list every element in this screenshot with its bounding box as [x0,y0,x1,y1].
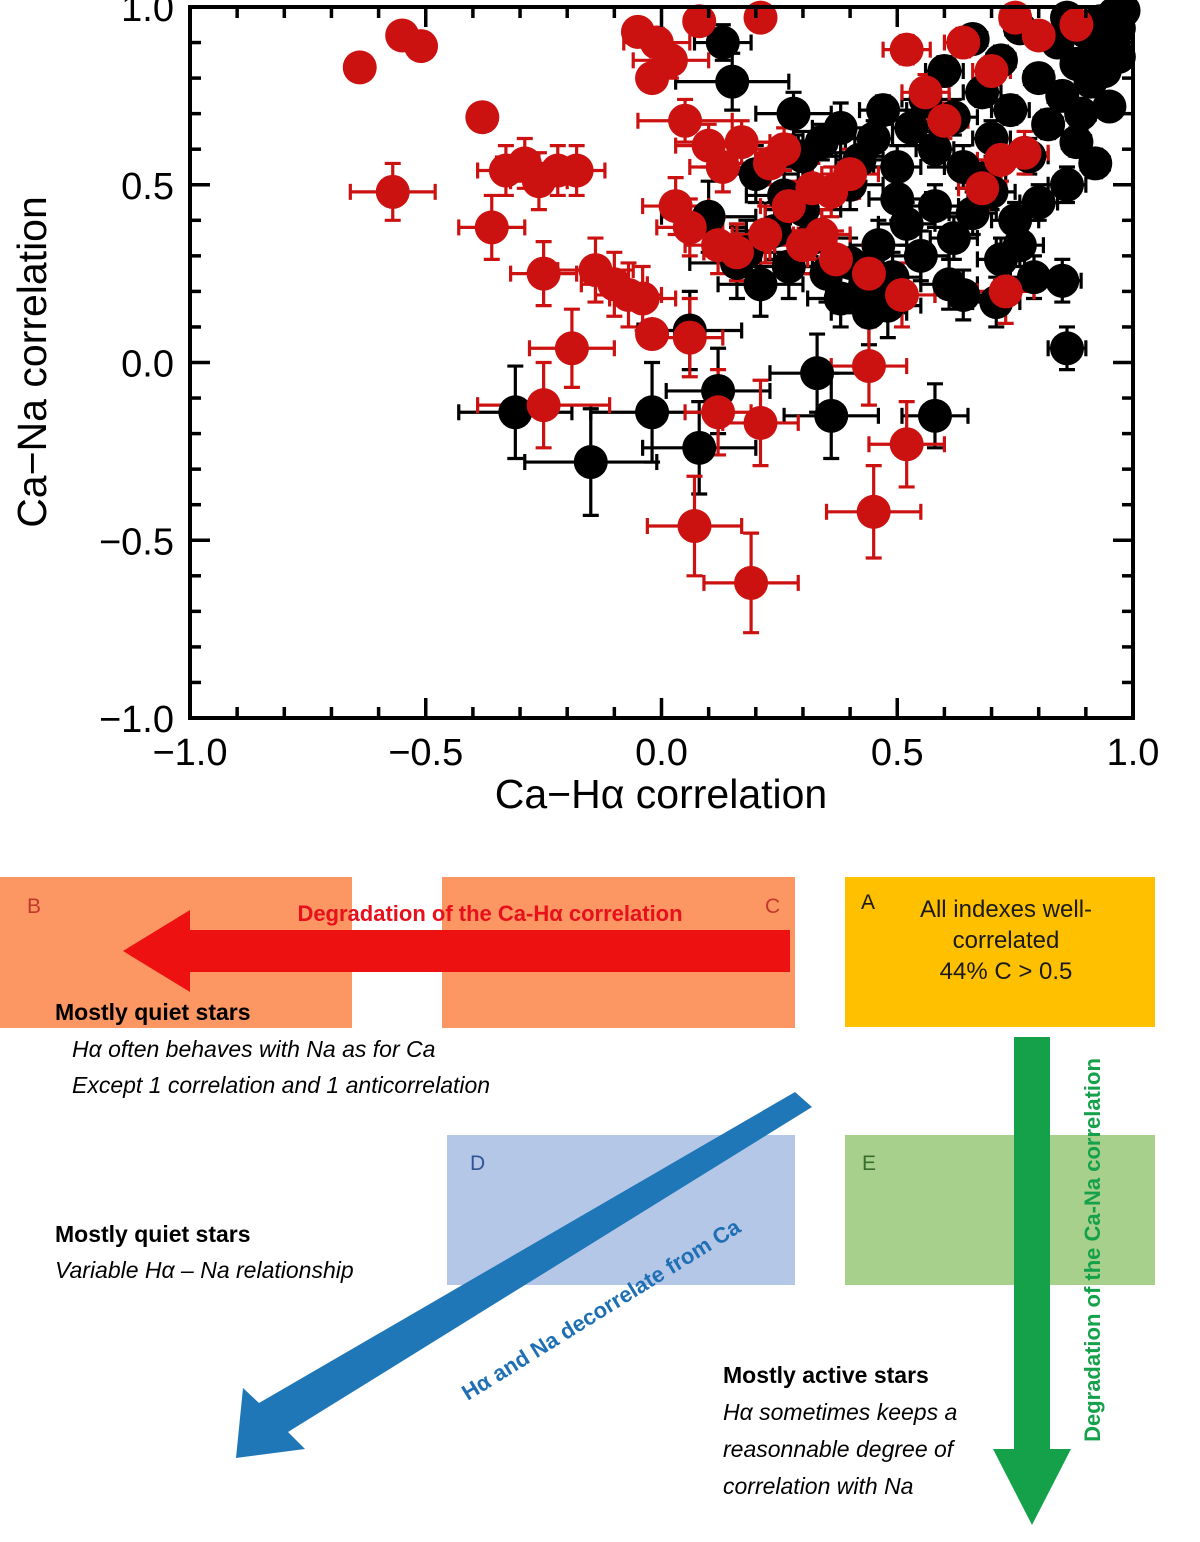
data-point [498,395,532,429]
data-point [678,509,712,543]
data-point [682,431,716,465]
data-point [527,388,561,422]
data-point [767,132,801,166]
data-point [574,445,608,479]
data-point [720,235,754,269]
box-letter-e: E [862,1152,876,1175]
data-point [885,278,919,312]
data-point [800,356,834,390]
data-point [654,43,688,77]
data-point [1022,18,1056,52]
data-point [786,228,820,262]
box-letter-d: D [470,1152,485,1175]
data-point [866,93,900,127]
data-point [1003,228,1037,262]
note-b-line-1: Hα often behaves with Na as for Ca [72,1036,435,1062]
box-letter-c: C [765,895,780,918]
data-point [673,321,707,355]
y-tick-label: 0.0 [121,344,174,386]
data-point [560,154,594,188]
data-point [1092,90,1126,124]
data-point [937,221,971,255]
data-point [814,399,848,433]
data-point [715,65,749,99]
data-point [904,239,938,273]
data-point [890,427,924,461]
data-point [1078,146,1112,180]
data-point [635,395,669,429]
data-point [1064,97,1098,131]
data-point [927,104,961,138]
box-a-line-1: All indexes well- [920,896,1092,923]
scatter-plot-svg: −1.0−0.50.00.51.0−1.0−0.50.00.51.0 Ca−Hα… [0,0,1200,845]
data-point [376,175,410,209]
data-point [725,125,759,159]
data-point [880,182,914,216]
data-point [909,75,943,109]
red-arrow-label: Degradation of the Ca-Hα correlation [297,901,682,926]
data-point [918,189,952,223]
y-tick-label: −1.0 [99,699,174,741]
note-b-title: Mostly quiet stars [55,999,251,1025]
note-e-line-2: reasonnable degree of [723,1436,956,1462]
x-axis-title: Ca−Hα correlation [495,771,827,817]
data-point [555,331,589,365]
data-point [975,54,1009,88]
green-arrow-label: Degradation of the Ca-Na correlation [1080,1058,1105,1442]
data-point [852,257,886,291]
schematic-diagram-svg: Degradation of the Ca-Hα correlation Hα … [0,845,1200,1542]
data-point [626,282,660,316]
data-point [1050,168,1084,202]
data-point [748,218,782,252]
box-a-line-3: 44% C > 0.5 [940,958,1073,985]
data-point [989,274,1023,308]
data-point [1059,8,1093,42]
y-tick-label: 1.0 [121,0,174,30]
data-point [343,50,377,84]
data-point [918,399,952,433]
y-axis-title: Ca−Na correlation [9,196,55,528]
region-box-e[interactable] [845,1135,1155,1285]
data-point [682,4,716,38]
data-point [1008,136,1042,170]
data-point [635,317,669,351]
data-point [946,278,980,312]
data-point [857,495,891,529]
scatter-plot-panel: −1.0−0.50.00.51.0−1.0−0.50.00.51.0 Ca−Hα… [0,0,1200,845]
data-point [465,100,499,134]
data-point [833,157,867,191]
note-d-line-1: Variable Hα – Na relationship [55,1257,354,1283]
x-tick-label: 0.5 [871,732,924,774]
data-point [527,257,561,291]
box-letter-a: A [861,891,875,914]
data-point [701,395,735,429]
data-point [668,104,702,138]
data-point [772,189,806,223]
y-tick-label: 0.5 [121,166,174,208]
x-tick-label: 1.0 [1107,732,1160,774]
schematic-diagram-panel: Degradation of the Ca-Hα correlation Hα … [0,845,1200,1542]
data-point [819,242,853,276]
x-tick-label: −0.5 [388,732,463,774]
data-point [824,111,858,145]
data-point [404,29,438,63]
data-point [880,150,914,184]
y-tick-label: −0.5 [99,521,174,563]
box-a-line-2: correlated [953,927,1060,954]
note-e-title: Mostly active stars [723,1362,929,1388]
note-b-line-2: Except 1 correlation and 1 anticorrelati… [72,1072,490,1098]
data-point [734,566,768,600]
data-point [965,171,999,205]
note-e-line-1: Hα sometimes keeps a [723,1399,957,1425]
data-point [1050,331,1084,365]
data-point [673,210,707,244]
x-tick-label: 0.0 [635,732,688,774]
data-point [946,26,980,60]
data-point [993,93,1027,127]
data-point [890,33,924,67]
box-letter-b: B [27,895,41,918]
data-point [777,97,811,131]
note-e-line-3: correlation with Na [723,1473,913,1499]
data-point [744,406,778,440]
data-point [475,210,509,244]
data-point [852,349,886,383]
note-d-title: Mostly quiet stars [55,1221,251,1247]
